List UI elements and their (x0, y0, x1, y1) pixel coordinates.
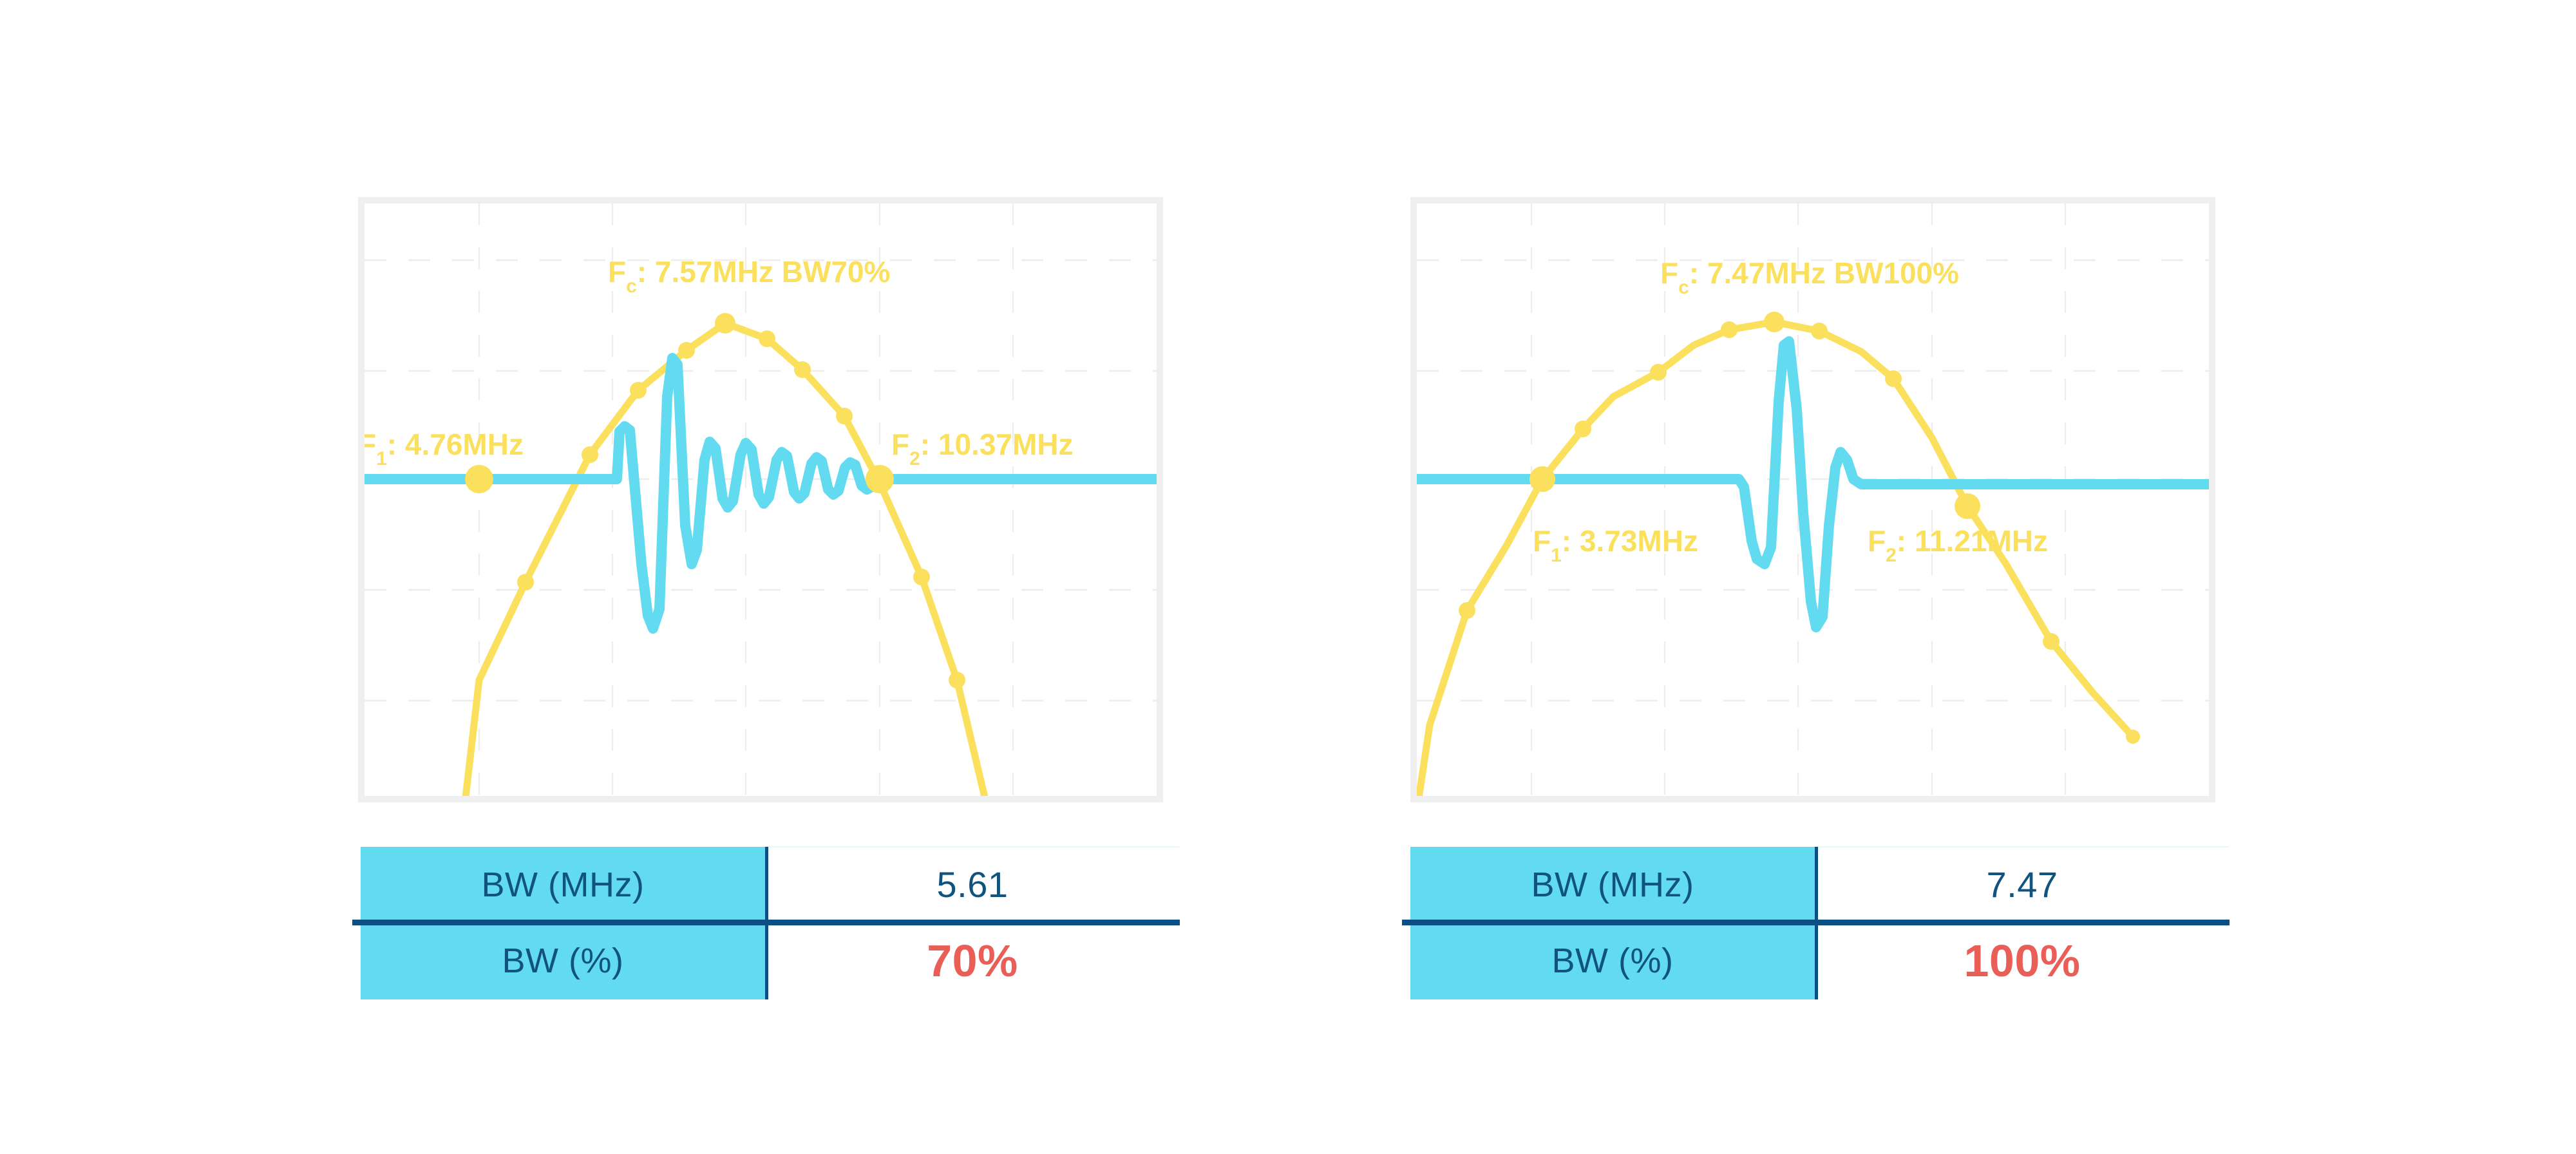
table-cell-value: 70% (765, 922, 1180, 999)
f2-crossing-marker-left (866, 465, 894, 493)
spectrum-curve-left (460, 323, 986, 796)
label-f1-right: F1: 3.73MHz (1533, 524, 1698, 566)
bw-table-right: BW (MHz) 7.47 BW (%) 100% (1410, 847, 2230, 999)
table-cell-key: BW (%) (1410, 922, 1815, 999)
label-f2-sub-left: 2 (909, 448, 920, 469)
label-f2-sub-right: 2 (1886, 545, 1897, 566)
label-center-sub-right: c (1678, 277, 1689, 298)
table-row: BW (MHz) 7.47 (1410, 847, 2230, 922)
chart-panel-left: Fc: 7.57MHz BW70% F1: 4.76MHz F2: 10.37M… (358, 197, 1163, 802)
label-center-sub-left: c (626, 276, 637, 297)
label-f1-left: F1: 4.76MHz (365, 428, 524, 469)
table-key-label: BW (%) (1552, 941, 1674, 981)
svg-text:F2: 11.21MHz: F2: 11.21MHz (1868, 524, 2048, 566)
table-cell-key: BW (%) (361, 922, 765, 999)
table-horizontal-divider-left (352, 920, 1180, 925)
label-f2-prefix-right: F (1868, 524, 1886, 558)
table-row: BW (%) 100% (1410, 922, 2230, 999)
table-cell-key: BW (MHz) (1410, 847, 1815, 922)
table-horizontal-divider-right (1402, 920, 2230, 925)
label-f2-prefix-left: F (891, 428, 909, 461)
table-key-label: BW (MHz) (482, 865, 645, 905)
label-f1-prefix-right: F (1533, 524, 1551, 558)
svg-text:Fc: 7.57MHz BW70%: Fc: 7.57MHz BW70% (608, 255, 890, 297)
figure-root: Fc: 7.57MHz BW70% F1: 4.76MHz F2: 10.37M… (0, 0, 2576, 1154)
label-center-right: Fc: 7.47MHz BW100% (1660, 256, 1959, 298)
table-cell-value: 7.47 (1815, 847, 2230, 922)
label-center-prefix-right: F (1660, 256, 1678, 290)
label-f2-text-left: : 10.37MHz (920, 428, 1074, 461)
chart-panel-right: Fc: 7.47MHz BW100% F1: 3.73MHz F2: 11.21… (1410, 197, 2215, 802)
label-f2-right: F2: 11.21MHz (1868, 524, 2048, 566)
table-top-line-left (765, 846, 1180, 847)
table-row: BW (MHz) 5.61 (361, 847, 1180, 922)
label-f2-text-right: : 11.21MHz (1897, 524, 2048, 558)
table-value-bw-mhz: 7.47 (1987, 864, 2058, 905)
table-cell-value: 100% (1815, 922, 2230, 999)
table-key-label: BW (%) (502, 941, 624, 981)
table-cell-key: BW (MHz) (361, 847, 765, 922)
table-cell-value: 5.61 (765, 847, 1180, 922)
label-f1-text-left: : 4.76MHz (387, 428, 524, 461)
pulse-waveform-left (365, 358, 1157, 629)
label-f1-text-right: : 3.73MHz (1562, 524, 1698, 558)
label-center-text-right: : 7.47MHz BW100% (1689, 256, 1959, 290)
table-value-bw-pct: 100% (1964, 935, 2080, 987)
label-center-left: Fc: 7.57MHz BW70% (608, 255, 890, 297)
spectrum-markers-left (517, 313, 965, 688)
table-value-bw-mhz: 5.61 (937, 864, 1009, 905)
label-center-text-left: : 7.57MHz BW70% (637, 255, 891, 288)
bw-table-left: BW (MHz) 5.61 BW (%) 70% (361, 847, 1180, 999)
label-center-prefix-left: F (608, 255, 626, 288)
chart-svg-right: Fc: 7.47MHz BW100% F1: 3.73MHz F2: 11.21… (1417, 203, 2209, 796)
f1-crossing-marker-left (465, 465, 493, 493)
table-key-label: BW (MHz) (1531, 865, 1694, 905)
table-value-bw-pct: 70% (927, 935, 1018, 987)
svg-text:F1: 3.73MHz: F1: 3.73MHz (1533, 524, 1698, 566)
table-row: BW (%) 70% (361, 922, 1180, 999)
table-top-line-right (1815, 846, 2230, 847)
chart-svg-left: Fc: 7.57MHz BW70% F1: 4.76MHz F2: 10.37M… (365, 203, 1157, 796)
label-f1-prefix-left: F (365, 428, 376, 461)
svg-text:F2: 10.37MHz: F2: 10.37MHz (891, 428, 1074, 469)
svg-text:Fc: 7.47MHz BW100%: Fc: 7.47MHz BW100% (1660, 256, 1959, 298)
label-f1-sub-left: 1 (376, 448, 387, 469)
svg-text:F1: 4.76MHz: F1: 4.76MHz (365, 428, 524, 469)
label-f1-sub-right: 1 (1551, 545, 1562, 566)
label-f2-left: F2: 10.37MHz (891, 428, 1074, 469)
grid-lines-right (1417, 203, 2209, 796)
